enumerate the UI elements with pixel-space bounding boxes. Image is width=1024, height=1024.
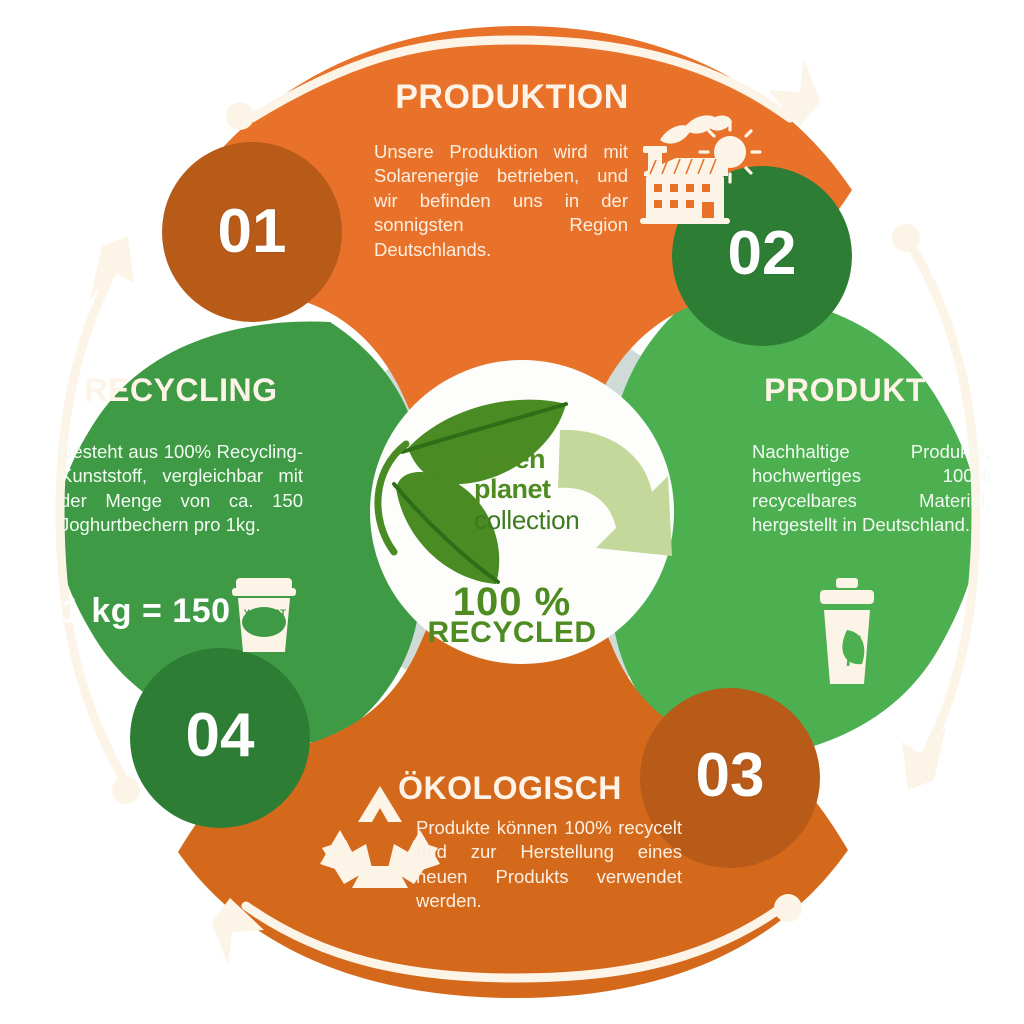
- badge-label-03: 03: [650, 740, 810, 811]
- section-title-recycling: RECYCLING: [36, 372, 326, 409]
- section-body-recycling: Besteht aus 100% Recycling-Kunststoff, v…: [60, 440, 303, 538]
- section-body-produktion: Unsere Produktion wird mit Solarenergie …: [374, 140, 628, 262]
- infographic-canvas: PRODUKTION Unsere Produktion wird mit So…: [0, 0, 1024, 1024]
- section-body-produkt: Nachhaltige Produkte, hochwertiges 100% …: [752, 440, 990, 538]
- logo-line-collection: collection: [474, 505, 579, 536]
- badge-label-01: 01: [172, 196, 332, 267]
- section-title-produkt: PRODUKT: [700, 372, 990, 409]
- badge-label-04: 04: [140, 700, 300, 771]
- badge-label-02: 02: [682, 218, 842, 289]
- section-body-oekologisch: Produkte können 100% recycelt und zur He…: [416, 816, 682, 914]
- logo-claim-word: RECYCLED: [0, 616, 1024, 650]
- logo-line-planet: planet: [474, 474, 551, 505]
- logo-line-green: green: [474, 444, 545, 475]
- section-title-produktion: PRODUKTION: [0, 78, 1024, 117]
